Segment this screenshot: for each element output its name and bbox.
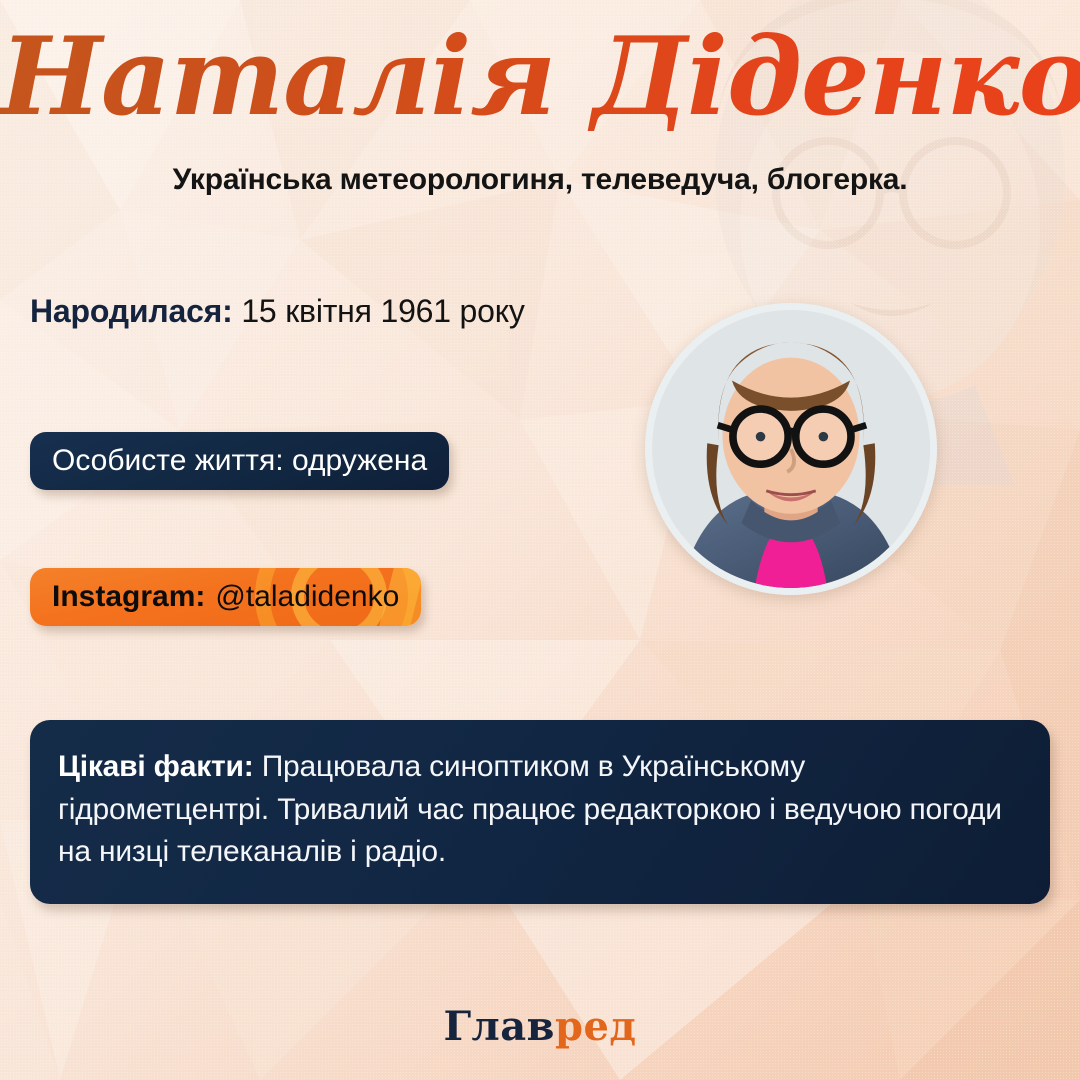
brand-logo-part-dark: Глав [443,1003,555,1050]
portrait-illustration [652,310,930,588]
born-line: Народилася: 15 квітня 1961 року [30,293,525,330]
personal-life-text: Особисте життя: одружена [52,444,427,478]
fun-facts-label: Цікаві факти: [58,750,254,783]
instagram-handle[interactable]: @taladidenko [215,580,399,614]
background-polygon-texture [0,0,1080,1080]
infographic-card: Наталія Діденко Українська метеорологиня… [0,0,1080,1080]
page-subtitle: Українська метеорологиня, телеведуча, бл… [0,163,1080,197]
born-label: Народилася: [30,293,233,329]
portrait-photo [645,303,937,595]
personal-life-badge: Особисте життя: одружена [30,432,449,490]
brand-logo-part-orange: ред [555,1003,637,1050]
fun-facts-block: Цікаві факти: Працювала синоптиком в Укр… [30,720,1050,904]
page-title: Наталія Діденко [0,14,1080,141]
instagram-label: Instagram: [52,580,205,614]
born-value: 15 квітня 1961 року [241,293,524,329]
instagram-badge[interactable]: Instagram: @taladidenko [30,568,421,626]
brand-logo[interactable]: Главред [0,1003,1080,1050]
